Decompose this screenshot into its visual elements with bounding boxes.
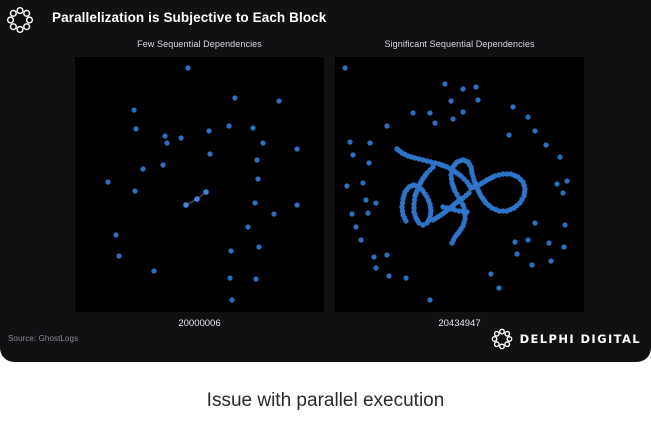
scatter-point: [253, 276, 258, 281]
scatter-panel-left: [75, 57, 324, 312]
scatter-point: [488, 271, 493, 276]
scatter-point: [294, 146, 299, 151]
chart-card: Parallelization is Subjective to Each Bl…: [0, 0, 651, 362]
scatter-point: [442, 81, 447, 86]
scatter-point: [206, 128, 211, 133]
scatter-point: [525, 114, 530, 119]
scatter-point: [384, 252, 389, 257]
scatter-point: [245, 224, 250, 229]
scatter-point: [464, 209, 469, 214]
scatter-point: [384, 123, 389, 128]
scatter-point: [133, 126, 138, 131]
scatter-point: [373, 265, 378, 270]
scatter-point: [294, 202, 299, 207]
scatter-point: [178, 135, 183, 140]
scatter-point: [512, 239, 517, 244]
scatter-point: [226, 123, 231, 128]
scatter-point: [554, 181, 559, 186]
scatter-point: [260, 140, 265, 145]
scatter-point: [529, 262, 534, 267]
scatter-point: [360, 180, 365, 185]
scatter-point: [271, 211, 276, 216]
scatter-point: [227, 275, 232, 280]
scatter-point: [410, 110, 415, 115]
scatter-point: [403, 218, 408, 223]
scatter-point: [496, 285, 501, 290]
scatter-point: [349, 211, 354, 216]
scatter-point: [162, 133, 167, 138]
scatter-point: [344, 183, 349, 188]
card-title: Parallelization is Subjective to Each Bl…: [52, 10, 326, 25]
scatter-point: [347, 139, 352, 144]
scatter-point: [475, 97, 480, 102]
panel-caption-right: Significant Sequential Dependencies: [335, 39, 584, 49]
scatter-point: [228, 248, 233, 253]
scatter-point: [363, 197, 368, 202]
page-caption: Issue with parallel execution: [0, 390, 651, 412]
scatter-point: [543, 142, 548, 147]
scatter-point: [105, 179, 110, 184]
scatter-point: [466, 190, 471, 195]
scatter-point: [427, 297, 432, 302]
scatter-point: [183, 202, 189, 208]
scatter-point: [432, 120, 437, 125]
scatter-plot-right: [335, 57, 584, 312]
scatter-point: [229, 297, 234, 302]
scatter-plot-left: [75, 57, 324, 312]
scatter-point: [460, 109, 465, 114]
scatter-point: [132, 188, 137, 193]
scatter-point: [546, 240, 551, 245]
scatter-point: [450, 116, 455, 121]
scatter-point: [116, 253, 121, 258]
scatter-point: [350, 152, 355, 157]
scatter-point: [367, 140, 372, 145]
source-attribution: Source: GhostLogs: [8, 334, 78, 343]
scatter-point: [194, 196, 200, 202]
scatter-point: [358, 237, 363, 242]
scatter-point: [427, 110, 432, 115]
scatter-point: [250, 125, 255, 130]
scatter-point: [232, 95, 237, 100]
scatter-point: [373, 200, 378, 205]
scatter-point: [113, 232, 118, 237]
scatter-point: [557, 154, 562, 159]
card-header: Parallelization is Subjective to Each Bl…: [0, 0, 651, 36]
delphi-ring-icon: [491, 328, 513, 350]
scatter-point: [525, 237, 530, 242]
block-label-left: 20000006: [75, 318, 324, 329]
scatter-point: [151, 268, 156, 273]
scatter-point: [140, 166, 145, 171]
scatter-point: [371, 254, 376, 259]
screenshot-root: Parallelization is Subjective to Each Bl…: [0, 0, 651, 434]
scatter-point: [548, 258, 553, 263]
scatter-point: [252, 200, 257, 205]
scatter-point: [366, 160, 371, 165]
scatter-panel-right: [335, 57, 584, 312]
scatter-point: [255, 176, 260, 181]
scatter-point: [473, 84, 478, 89]
scatter-point: [564, 178, 569, 183]
scatter-point: [506, 132, 511, 137]
scatter-point: [185, 65, 190, 70]
scatter-point: [256, 244, 261, 249]
scatter-point: [460, 86, 465, 91]
scatter-point: [561, 244, 566, 249]
scatter-point: [532, 220, 537, 225]
scatter-point: [562, 222, 567, 227]
scatter-point: [254, 157, 259, 162]
delphi-digital-wordmark: DELPHI DIGITAL: [520, 332, 641, 346]
scatter-point: [510, 104, 515, 109]
scatter-point: [365, 210, 370, 215]
scatter-point: [514, 251, 519, 256]
scatter-point: [448, 98, 453, 103]
scatter-point: [203, 189, 209, 195]
delphi-digital-logo: DELPHI DIGITAL: [491, 328, 641, 350]
scatter-point: [449, 240, 454, 245]
scatter-point: [207, 151, 212, 156]
scatter-point: [160, 162, 165, 167]
scatter-point: [403, 275, 408, 280]
scatter-point: [560, 190, 565, 195]
panel-caption-left: Few Sequential Dependencies: [75, 39, 324, 49]
delphi-ring-icon: [6, 6, 34, 34]
scatter-point: [342, 65, 347, 70]
scatter-point: [131, 107, 136, 112]
scatter-point: [276, 98, 281, 103]
scatter-point: [164, 140, 169, 145]
scatter-point: [353, 224, 358, 229]
scatter-point: [532, 128, 537, 133]
scatter-point: [386, 273, 391, 278]
